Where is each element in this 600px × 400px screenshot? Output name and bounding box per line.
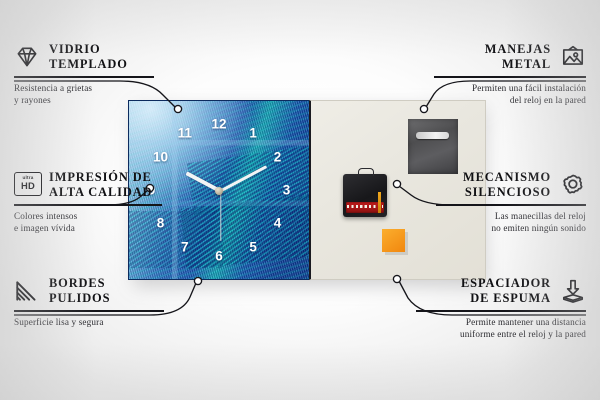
clock-center-pin [215, 187, 223, 195]
callout-title: ESPACIADOR DE ESPUMA [461, 276, 551, 305]
metal-hanger-plate-icon [408, 119, 458, 174]
callout-description: Colores intensos e imagen vívida [14, 210, 162, 235]
callout-vidrio-templado[interactable]: VIDRIO TEMPLADO Resistencia a grietas y … [14, 42, 154, 106]
clock-minute-hand [219, 165, 266, 192]
movement-hook [358, 168, 375, 176]
clock-numeral: 3 [283, 183, 291, 197]
diamond-icon [14, 44, 40, 70]
clock-numeral: 11 [178, 126, 192, 140]
clock-numeral: 4 [274, 216, 282, 230]
product-image: 12 1 2 3 4 5 6 7 8 9 10 11 [128, 100, 483, 280]
callout-title: MECANISMO SILENCIOSO [463, 170, 551, 199]
clock-numeral: 5 [249, 240, 257, 254]
clock-numeral: 1 [249, 126, 257, 140]
clock-movement [343, 174, 387, 217]
callout-title: MANEJAS METAL [485, 42, 551, 71]
clock-numeral: 2 [274, 150, 282, 164]
callout-espaciador-de-espuma[interactable]: ESPACIADOR DE ESPUMA Permite mantener un… [416, 276, 586, 340]
clock-numeral: 12 [211, 117, 226, 131]
callout-description: Superficie lisa y segura [14, 316, 164, 328]
clock-numeral: 7 [181, 240, 189, 254]
wave-pattern-accent [187, 146, 310, 217]
ultra-hd-icon: ultra HD [14, 172, 40, 198]
callout-divider [416, 310, 586, 311]
foam-arrow-icon [560, 278, 586, 304]
clock-numeral: 10 [153, 150, 168, 164]
callout-bordes-pulidos[interactable]: BORDES PULIDOS Superficie lisa y segura [14, 276, 164, 328]
clock-hour-hand [186, 171, 221, 192]
gear-icon [560, 172, 586, 198]
callout-divider [14, 204, 162, 205]
callout-description: Permite mantener una distancia uniforme … [416, 316, 586, 341]
callout-title: BORDES PULIDOS [49, 276, 110, 305]
callout-description: Las manecillas del reloj no emiten ningú… [436, 210, 586, 235]
polished-edge-icon [14, 278, 40, 304]
battery-tab [378, 192, 382, 213]
callout-title: IMPRESIÓN DE ALTA CALIDAD [49, 170, 152, 199]
callout-divider [14, 310, 164, 311]
callout-description: Permiten una fácil instalación del reloj… [434, 82, 586, 107]
hd-badge-large-text: HD [21, 181, 35, 190]
infographic-canvas: 12 1 2 3 4 5 6 7 8 9 10 11 [0, 0, 600, 400]
clock-numeral: 6 [215, 249, 223, 263]
callout-divider [434, 76, 586, 77]
wave-pattern-accent [180, 193, 310, 268]
callout-divider [436, 204, 586, 205]
callout-manejas-metal[interactable]: MANEJAS METAL Permiten una fácil instala… [434, 42, 586, 106]
clock-second-hand [220, 191, 221, 241]
callout-impresion-alta-calidad[interactable]: ultra HD IMPRESIÓN DE ALTA CALIDAD Color… [14, 170, 162, 234]
callout-description: Resistencia a grietas y rayones [14, 82, 154, 107]
hanger-slot [416, 132, 449, 139]
hanging-frame-icon [560, 44, 586, 70]
callout-mecanismo-silencioso[interactable]: MECANISMO SILENCIOSO Las manecillas del … [436, 170, 586, 234]
callout-divider [14, 76, 154, 77]
callout-title: VIDRIO TEMPLADO [49, 42, 128, 71]
foam-spacer [382, 229, 405, 252]
